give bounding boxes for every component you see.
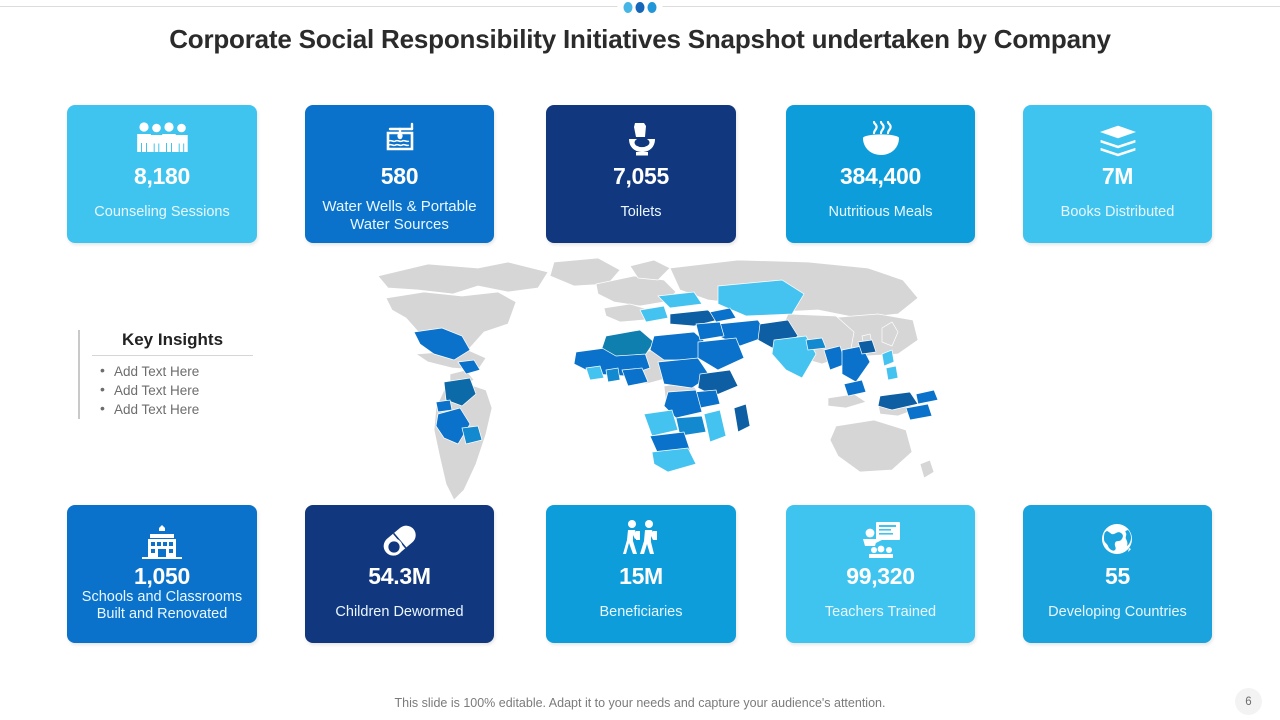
books-icon [1094,117,1142,159]
stat-value: 8,180 [134,164,190,188]
key-insights-panel: Key Insights Add Text Here Add Text Here… [78,330,253,419]
stat-label: Developing Countries [1042,604,1193,621]
water-well-icon [378,117,422,159]
stat-value: 15M [619,564,663,588]
toilet-icon [624,117,658,159]
key-insights-list: Add Text Here Add Text Here Add Text Her… [90,362,253,419]
stat-value: 99,320 [846,564,915,588]
top-decoration [0,0,1280,14]
stat-label: Nutritious Meals [823,204,939,221]
stat-card-schools-built[interactable]: 1,050 Schools and Classrooms Built and R… [67,505,257,643]
stat-label: Beneficiaries [593,604,688,621]
group-people-icon [135,117,189,159]
stat-card-books-distributed[interactable]: 7M Books Distributed [1023,105,1212,243]
stat-value: 1,050 [134,564,190,588]
stat-value: 54.3M [368,564,430,588]
training-board-icon [859,517,903,559]
list-item[interactable]: Add Text Here [90,381,253,400]
dot-light-icon [624,2,633,13]
stat-card-beneficiaries[interactable]: 15M Beneficiaries [546,505,736,643]
dot-dark-icon [636,2,645,13]
list-item[interactable]: Add Text Here [90,400,253,419]
dot-medium-icon [648,2,657,13]
stat-label: Books Distributed [1055,204,1181,221]
stat-card-developing-countries[interactable]: 55 Developing Countries [1023,505,1212,643]
walking-people-icon [621,517,661,559]
stat-label: Teachers Trained [819,604,942,621]
pills-icon [378,517,422,559]
stat-value: 55 [1105,564,1130,588]
page-title: Corporate Social Responsibility Initiati… [0,24,1280,55]
stat-value: 7M [1102,164,1133,188]
world-map [358,258,944,506]
footer-note: This slide is 100% editable. Adapt it to… [0,696,1280,710]
list-item[interactable]: Add Text Here [90,362,253,381]
stat-card-water-wells[interactable]: 580 Water Wells & Portable Water Sources [305,105,494,243]
stat-value: 580 [381,164,418,188]
decorative-dots [618,0,663,14]
stat-value: 384,400 [840,164,921,188]
stat-value: 7,055 [613,164,669,188]
stat-label: Children Dewormed [329,604,469,621]
stat-card-children-dewormed[interactable]: 54.3M Children Dewormed [305,505,494,643]
school-building-icon [140,517,184,559]
stat-card-counseling-sessions[interactable]: 8,180 Counseling Sessions [67,105,257,243]
stat-label: Water Wells & Portable Water Sources [305,198,494,233]
stat-card-teachers-trained[interactable]: 99,320 Teachers Trained [786,505,975,643]
stat-label: Counseling Sessions [88,204,235,221]
stat-label: Schools and Classrooms Built and Renovat… [67,589,257,623]
meal-bowl-icon [857,117,905,159]
stat-card-toilets[interactable]: 7,055 Toilets [546,105,736,243]
key-insights-title: Key Insights [92,330,253,356]
stat-card-nutritious-meals[interactable]: 384,400 Nutritious Meals [786,105,975,243]
stat-label: Toilets [614,204,667,221]
page-number-badge: 6 [1235,688,1262,715]
globe-icon [1098,517,1138,559]
